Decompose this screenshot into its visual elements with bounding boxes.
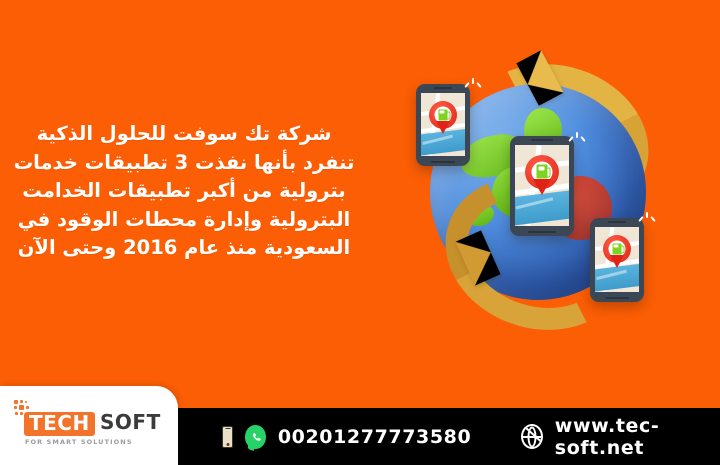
contact-info-group: 00201277773580 www.tec-soft.net bbox=[222, 408, 720, 465]
gas-pump-icon bbox=[613, 243, 622, 254]
logo-square bbox=[25, 401, 27, 403]
headline-line-2: تنفرد بأنها نفذت 3 تطبيقات خدمات bbox=[8, 149, 360, 178]
phone-home-bar bbox=[528, 231, 556, 233]
logo-square bbox=[14, 400, 18, 404]
whatsapp-icon[interactable] bbox=[245, 425, 265, 449]
logo-square bbox=[15, 412, 18, 415]
logo-square bbox=[14, 406, 17, 409]
map-water bbox=[515, 190, 569, 226]
pin-tail bbox=[436, 121, 450, 134]
map-pin-icon bbox=[525, 155, 559, 189]
map-pin-icon bbox=[429, 101, 457, 129]
logo-word-tech: TECH bbox=[29, 413, 90, 434]
headline-line-3: بترولية من أكبر تطبيقات الخدامت bbox=[8, 177, 360, 206]
gas-pump-icon bbox=[439, 109, 448, 120]
phone-left bbox=[416, 84, 470, 166]
phone-right-screen bbox=[595, 227, 639, 292]
tech-soft-logo[interactable]: TECH SOFT FOR SMART SOLUTIONS bbox=[14, 400, 164, 448]
logo-tagline: FOR SMART SOLUTIONS bbox=[25, 438, 133, 446]
headline-line-1: شركة تك سوفت للحلول الذكية bbox=[8, 120, 360, 149]
logo-panel: TECH SOFT FOR SMART SOLUTIONS bbox=[0, 386, 178, 465]
phone-speaker bbox=[434, 87, 452, 89]
logo-tech-badge: TECH bbox=[24, 412, 95, 436]
phone-home-bar bbox=[605, 297, 629, 299]
headline-line-4: البترولية وإدارة محطات الوقود في bbox=[8, 206, 360, 235]
logo-word-soft: SOFT bbox=[100, 412, 161, 433]
logo-square bbox=[19, 405, 24, 410]
phone-speaker bbox=[531, 139, 553, 141]
phone-number-text[interactable]: 00201277773580 bbox=[278, 426, 471, 448]
phone-left-screen bbox=[421, 93, 465, 156]
phone-speaker bbox=[608, 221, 626, 223]
logo-square bbox=[20, 412, 23, 415]
phone-right bbox=[590, 218, 644, 302]
headline-line-5: السعودية منذ عام 2016 وحتى الآن bbox=[8, 234, 360, 263]
phone-home-bar bbox=[431, 161, 455, 163]
gas-pump-icon bbox=[537, 165, 548, 179]
globe-phones-illustration bbox=[378, 48, 714, 348]
pin-tail bbox=[610, 255, 624, 268]
logo-square bbox=[20, 400, 23, 403]
headline-text-block: شركة تك سوفت للحلول الذكية تنفرد بأنها ن… bbox=[8, 120, 360, 263]
pin-tail bbox=[533, 179, 551, 195]
phone-center-screen bbox=[515, 145, 569, 226]
mobile-phone-icon bbox=[222, 426, 233, 448]
map-pin-icon bbox=[603, 235, 631, 263]
globe-equator bbox=[521, 436, 543, 438]
globe-web-icon[interactable] bbox=[521, 424, 543, 449]
website-text[interactable]: www.tec-soft.net bbox=[555, 415, 720, 459]
logo-square bbox=[26, 406, 29, 409]
promo-poster: شركة تك سوفت للحلول الذكية تنفرد بأنها ن… bbox=[0, 0, 720, 465]
phone-center bbox=[510, 136, 574, 236]
